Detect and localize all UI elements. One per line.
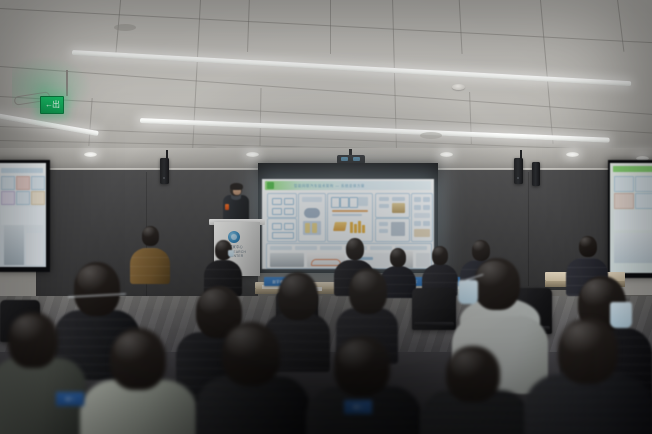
slide-panel-sensing xyxy=(267,193,297,218)
chair-seat-tag-text: 展区 1 xyxy=(65,397,74,401)
right-wall-display-screen xyxy=(610,163,652,273)
cloud-icon xyxy=(304,208,320,218)
exit-sign-icon: ←出 xyxy=(40,96,64,114)
chair-seat-tag-text: 展区 2 xyxy=(353,405,362,409)
slide-title: 智能网联汽车技术架构 — 系统总体方案 xyxy=(294,183,365,188)
exit-sign-assembly: ←出 xyxy=(14,70,84,118)
recessed-downlight xyxy=(440,152,453,157)
attendee-foreground xyxy=(306,336,422,434)
attendee-foreground xyxy=(196,322,310,434)
presenter-badge xyxy=(225,204,229,210)
projector-lens xyxy=(341,157,348,161)
ceiling-vent xyxy=(420,132,442,139)
right-wall-display xyxy=(608,160,652,278)
slide-panel-cloud xyxy=(298,193,326,242)
attendee-foreground xyxy=(420,346,530,434)
speaker-left xyxy=(160,158,169,184)
face-mask xyxy=(228,250,234,257)
chair-armrest xyxy=(414,322,454,326)
left-wall-display xyxy=(0,160,50,272)
face-mask xyxy=(458,280,478,304)
chair-seat-tag: 展区 2 xyxy=(344,400,372,414)
slide-header-banner: 智能网联汽车技术架构 — 系统总体方案 xyxy=(265,181,431,190)
projector-lens-secondary xyxy=(353,157,360,161)
chair-seat-tag: 展区 1 xyxy=(56,392,84,406)
presenter-hair xyxy=(230,183,243,190)
recessed-downlight xyxy=(84,152,97,157)
recessed-downlight xyxy=(246,152,259,157)
left-wall-display-screen xyxy=(0,163,46,267)
exit-sign-glyph: ←出 xyxy=(45,101,59,109)
slide-panel-sensing-2 xyxy=(267,218,297,242)
attendee-foreground xyxy=(0,312,86,434)
ceiling-vent xyxy=(114,24,136,31)
speaker-far-right xyxy=(532,162,540,186)
attendee-foreground xyxy=(524,318,652,434)
ceiling: ←出 xyxy=(0,0,652,152)
slide-vehicle-image xyxy=(392,203,405,213)
slide-panel-modules xyxy=(411,193,433,242)
smoke-detector xyxy=(452,84,465,90)
attendee-foreground xyxy=(80,328,198,434)
slide-header-badge xyxy=(267,182,274,189)
speaker-right xyxy=(514,158,523,184)
conference-room-photo: ←出 xyxy=(0,0,652,434)
slide-panel-control xyxy=(375,193,410,218)
slide-panel-analytics xyxy=(327,193,373,242)
slide-photo-left xyxy=(270,253,304,267)
cube-icon xyxy=(333,222,347,231)
slide-panel-topology xyxy=(375,218,410,242)
recessed-downlight xyxy=(566,152,579,157)
